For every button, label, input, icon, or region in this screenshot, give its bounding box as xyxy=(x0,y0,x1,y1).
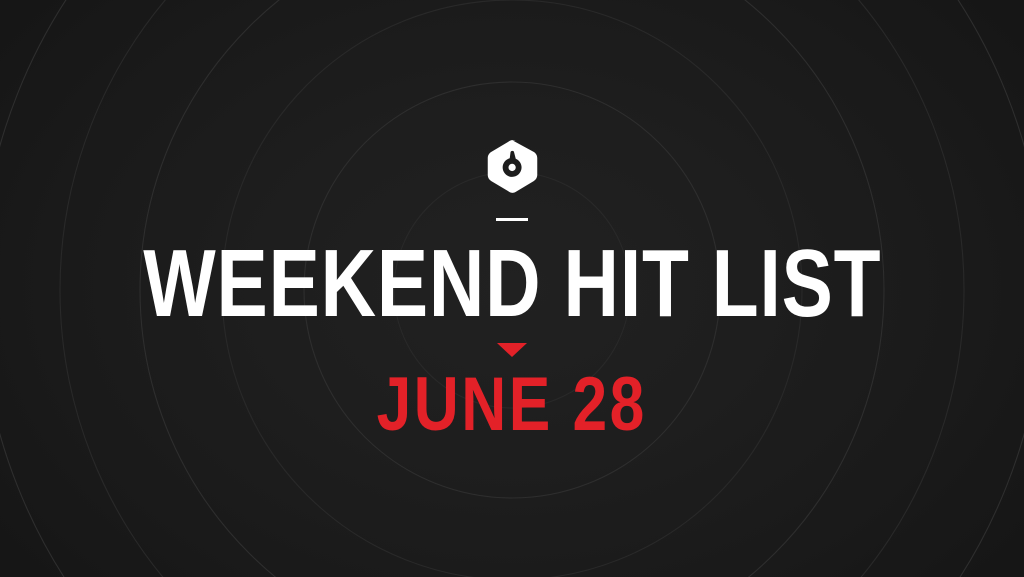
beats-logo-icon xyxy=(485,139,540,194)
date-label: JUNE 28 xyxy=(377,367,647,443)
triangle-down-icon xyxy=(497,343,527,357)
poster-content: WEEKEND HIT LIST JUNE 28 xyxy=(0,0,1024,577)
page-title: WEEKEND HIT LIST xyxy=(143,237,881,331)
weekend-hit-list-poster: WEEKEND HIT LIST JUNE 28 xyxy=(0,0,1024,577)
divider-rule xyxy=(496,218,528,221)
